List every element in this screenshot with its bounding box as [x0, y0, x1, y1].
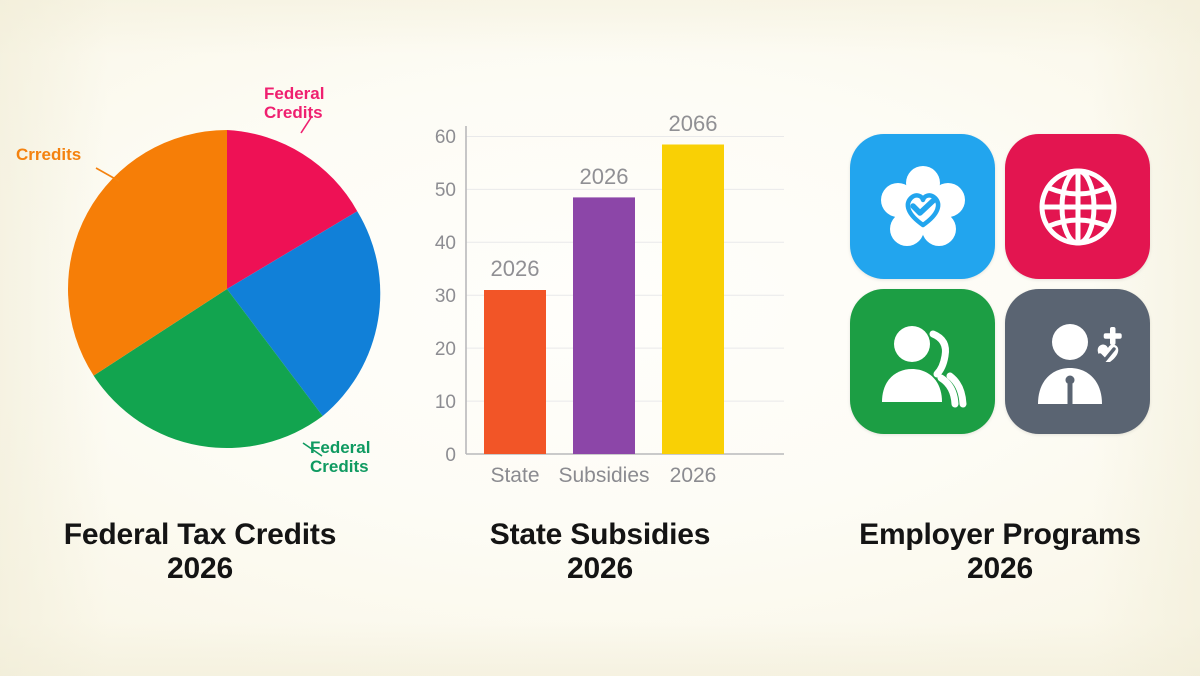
- panel-employer-programs: Employer Programs 2026: [800, 0, 1200, 676]
- pie-label-green: Federal Credits: [310, 438, 370, 476]
- bar-value-label-state: 2026: [491, 256, 540, 281]
- people-group-icon: [875, 316, 971, 408]
- panel-state-subsidies: 0 10 20 30 40 50 60: [400, 0, 800, 676]
- panel-caption-state-subsidies: State Subsidies 2026: [400, 518, 800, 585]
- bar-state: [484, 290, 546, 454]
- icon-tile-person-benefit[interactable]: [1005, 289, 1150, 434]
- leader-line-orange: [96, 168, 119, 181]
- svg-text:50: 50: [435, 180, 456, 201]
- bar-category-label-0: State: [490, 464, 539, 487]
- pie-leader-lines: [0, 0, 420, 512]
- caption-year: 2026: [0, 552, 400, 586]
- icon-tile-people[interactable]: [850, 289, 995, 434]
- caption-title: State Subsidies: [400, 518, 800, 552]
- globe-icon: [1032, 161, 1124, 253]
- svg-text:20: 20: [435, 339, 456, 360]
- svg-text:60: 60: [435, 127, 456, 148]
- pie-label-orange-line1: Crredits: [16, 145, 81, 164]
- bar-category-label-2: 2026: [670, 464, 717, 487]
- bar-figure-area: 0 10 20 30 40 50 60: [400, 0, 800, 512]
- svg-text:10: 10: [435, 392, 456, 413]
- pie-label-green-line2: Credits: [310, 457, 369, 476]
- icon-tile-health-cloud[interactable]: [850, 134, 995, 279]
- bar-chart-x-tick-labels: State Subsidies 2026: [490, 464, 716, 487]
- caption-year: 2026: [800, 552, 1200, 586]
- bar-2026: [662, 145, 724, 455]
- icon-grid: [850, 134, 1150, 434]
- bar-chart-svg: 0 10 20 30 40 50 60: [408, 96, 792, 496]
- pie-label-crimson: Federal Credits: [264, 84, 324, 122]
- caption-year: 2026: [400, 552, 800, 586]
- bar-chart-y-tick-labels: 0 10 20 30 40 50 60: [435, 127, 456, 466]
- pie-label-orange: Crredits: [16, 145, 81, 164]
- bar-value-label-2026: 2066: [669, 111, 718, 136]
- icon-grid-figure-area: [800, 0, 1200, 512]
- bar-category-label-1: Subsidies: [558, 464, 649, 487]
- icon-tile-globe[interactable]: [1005, 134, 1150, 279]
- panel-row: Federal Credits Crredits Federal Credits…: [0, 0, 1200, 676]
- pie-figure-area: Federal Credits Crredits Federal Credits: [0, 0, 400, 512]
- pie-label-green-line1: Federal: [310, 438, 370, 457]
- bar-value-label-subsidies: 2026: [580, 164, 629, 189]
- panel-federal-tax-credits: Federal Credits Crredits Federal Credits…: [0, 0, 400, 676]
- panel-caption-federal-tax-credits: Federal Tax Credits 2026: [0, 518, 400, 585]
- caption-title: Employer Programs: [800, 518, 1200, 552]
- pie-label-crimson-line2: Credits: [264, 103, 323, 122]
- poster-canvas: Federal Credits Crredits Federal Credits…: [0, 0, 1200, 676]
- svg-text:40: 40: [435, 233, 456, 254]
- person-heart-plus-icon: [1030, 316, 1126, 408]
- bar-chart: 0 10 20 30 40 50 60: [408, 96, 792, 496]
- panel-caption-employer-programs: Employer Programs 2026: [800, 518, 1200, 585]
- svg-text:0: 0: [445, 445, 456, 466]
- pie-label-crimson-line1: Federal: [264, 84, 324, 103]
- caption-title: Federal Tax Credits: [0, 518, 400, 552]
- cloud-heart-check-icon: [875, 159, 971, 255]
- bar-subsidies: [573, 197, 635, 454]
- svg-text:30: 30: [435, 286, 456, 307]
